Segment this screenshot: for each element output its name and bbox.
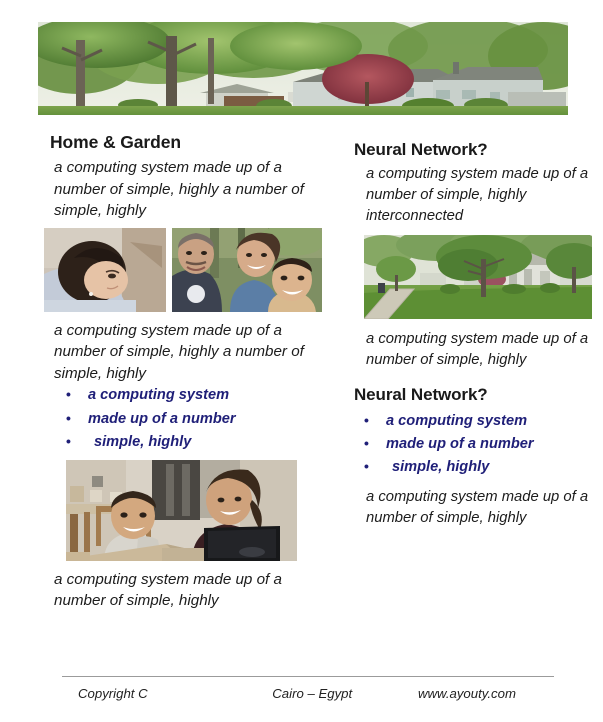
- left-column-heading: Home & Garden: [50, 132, 334, 153]
- left-column: Home & Garden a computing system made up…: [42, 132, 334, 612]
- left-photo-row: [44, 228, 334, 312]
- list-item: simple, highly: [352, 456, 592, 479]
- left-intro-paragraph: a computing system made up of a number o…: [54, 157, 334, 222]
- footer-location: Cairo – Egypt: [272, 686, 418, 701]
- child-resting-photo: [44, 228, 166, 312]
- list-item: made up of a number: [54, 408, 334, 431]
- right-mid-paragraph: a computing system made up of a number o…: [366, 329, 592, 371]
- left-bullet-list: a computing system made up of a number s…: [54, 384, 334, 453]
- right-column-heading-bottom: Neural Network?: [354, 385, 592, 405]
- footer-row: Copyright C Cairo – Egypt www.ayouty.com: [62, 686, 554, 701]
- right-column: Neural Network? a computing system made …: [352, 140, 592, 529]
- right-bullet-list: a computing system made up of a number s…: [352, 410, 592, 479]
- mother-child-laptop-image: [66, 460, 297, 561]
- left-photo-caption: a computing system made up of a number o…: [54, 569, 334, 612]
- child-resting-image: [44, 228, 166, 312]
- list-item: made up of a number: [352, 433, 592, 456]
- mother-child-laptop-photo: [66, 460, 297, 561]
- footer-divider: [62, 676, 554, 677]
- family-selfie-image: [172, 228, 322, 312]
- right-closing-paragraph: a computing system made up of a number o…: [366, 487, 592, 529]
- list-item: a computing system: [54, 384, 334, 407]
- footer-website: www.ayouty.com: [418, 686, 554, 701]
- page-footer: Copyright C Cairo – Egypt www.ayouty.com: [62, 676, 554, 701]
- list-item: a computing system: [352, 410, 592, 433]
- family-selfie-photo: [172, 228, 322, 312]
- newsletter-page: Home & Garden a computing system made up…: [0, 0, 603, 722]
- suburban-street-photo: [364, 235, 592, 319]
- list-item: simple, highly: [54, 431, 334, 454]
- left-second-paragraph: a computing system made up of a number o…: [54, 320, 334, 385]
- suburban-street-image: [364, 235, 592, 319]
- banner-image: [38, 22, 568, 115]
- footer-copyright: Copyright C: [62, 686, 272, 701]
- right-column-heading-top: Neural Network?: [354, 140, 592, 160]
- banner-photo: [38, 22, 568, 115]
- right-intro-paragraph: a computing system made up of a number o…: [366, 164, 592, 227]
